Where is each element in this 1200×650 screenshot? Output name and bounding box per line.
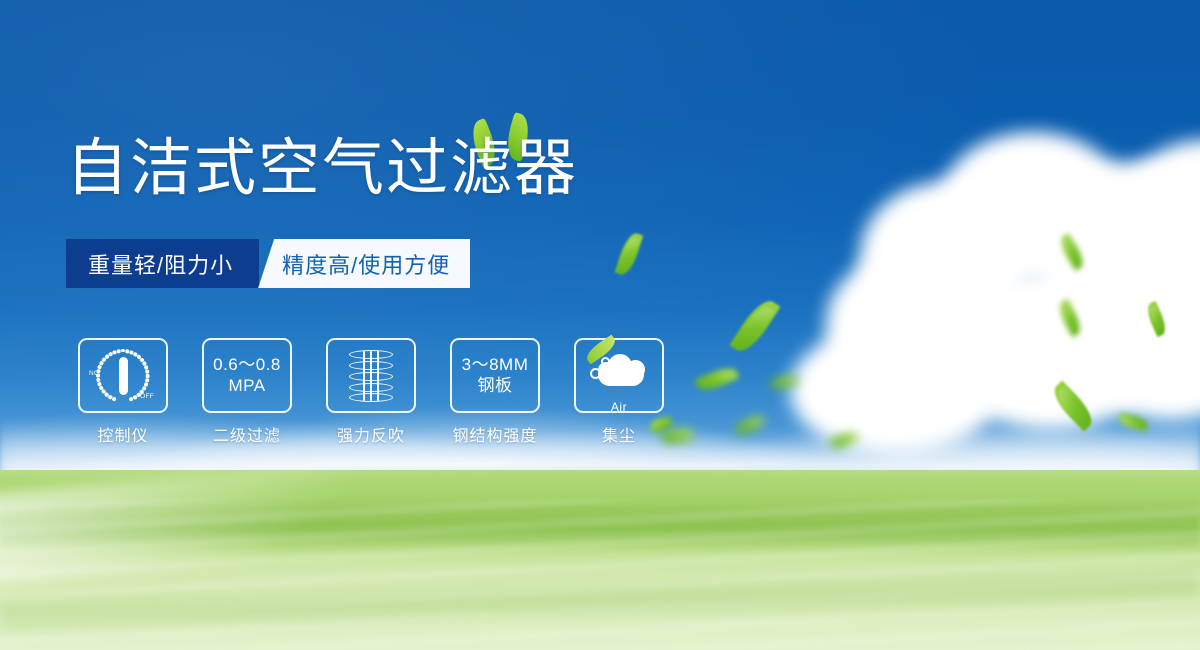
feature-icon-box xyxy=(326,338,416,413)
banner-stage: 自洁式空气过滤器 重量轻/阻力小 精度高/使用方便 xyxy=(0,0,1200,650)
feature-icon-box: NO OFF xyxy=(78,338,168,413)
steel-value-line2: 钢板 xyxy=(478,376,513,396)
subtitle-right-segment: 精度高/使用方便 xyxy=(258,239,470,288)
feature-label: 二级过滤 xyxy=(213,422,281,446)
pressure-value-line1: 0.6～0.8 xyxy=(213,355,281,375)
feature-icon-box: 0.6～0.8 MPA xyxy=(202,338,292,413)
feature-label: 控制仪 xyxy=(97,422,148,446)
gauge-label-off: OFF xyxy=(140,393,154,400)
feature-icon-box: Air xyxy=(574,338,664,413)
subtitle-left-segment: 重量轻/阻力小 xyxy=(66,239,259,288)
feature-label: 强力反吹 xyxy=(337,422,405,446)
dust-bubble-icon xyxy=(601,357,610,366)
air-caption: Air xyxy=(588,400,650,414)
air-cloud-icon: Air xyxy=(588,351,650,401)
gauge-icon: NO OFF xyxy=(94,348,152,404)
pressure-value-line2: MPA xyxy=(228,376,265,396)
feature-item-steel-strength[interactable]: 3～8MM 钢板 钢结构强度 xyxy=(450,338,540,446)
feature-list: NO OFF 控制仪 0.6～0.8 MPA 二级过滤 xyxy=(78,338,664,446)
stacked-discs-icon xyxy=(345,348,397,404)
feature-icon-box: 3～8MM 钢板 xyxy=(450,338,540,413)
page-title: 自洁式空气过滤器 xyxy=(66,136,578,201)
feature-item-controller[interactable]: NO OFF 控制仪 xyxy=(78,338,168,446)
grass-field xyxy=(0,470,1200,650)
feature-label: 钢结构强度 xyxy=(452,422,537,446)
steel-value-line1: 3～8MM xyxy=(462,355,529,375)
feature-label: 集尘 xyxy=(602,422,636,446)
dust-bubble-icon xyxy=(590,368,601,379)
gauge-label-no: NO xyxy=(89,370,99,377)
feature-item-blowback[interactable]: 强力反吹 xyxy=(326,338,416,446)
feature-item-two-stage-filter[interactable]: 0.6～0.8 MPA 二级过滤 xyxy=(202,338,292,446)
subtitle-bar: 重量轻/阻力小 精度高/使用方便 xyxy=(66,239,470,288)
gauge-needle xyxy=(119,357,128,395)
